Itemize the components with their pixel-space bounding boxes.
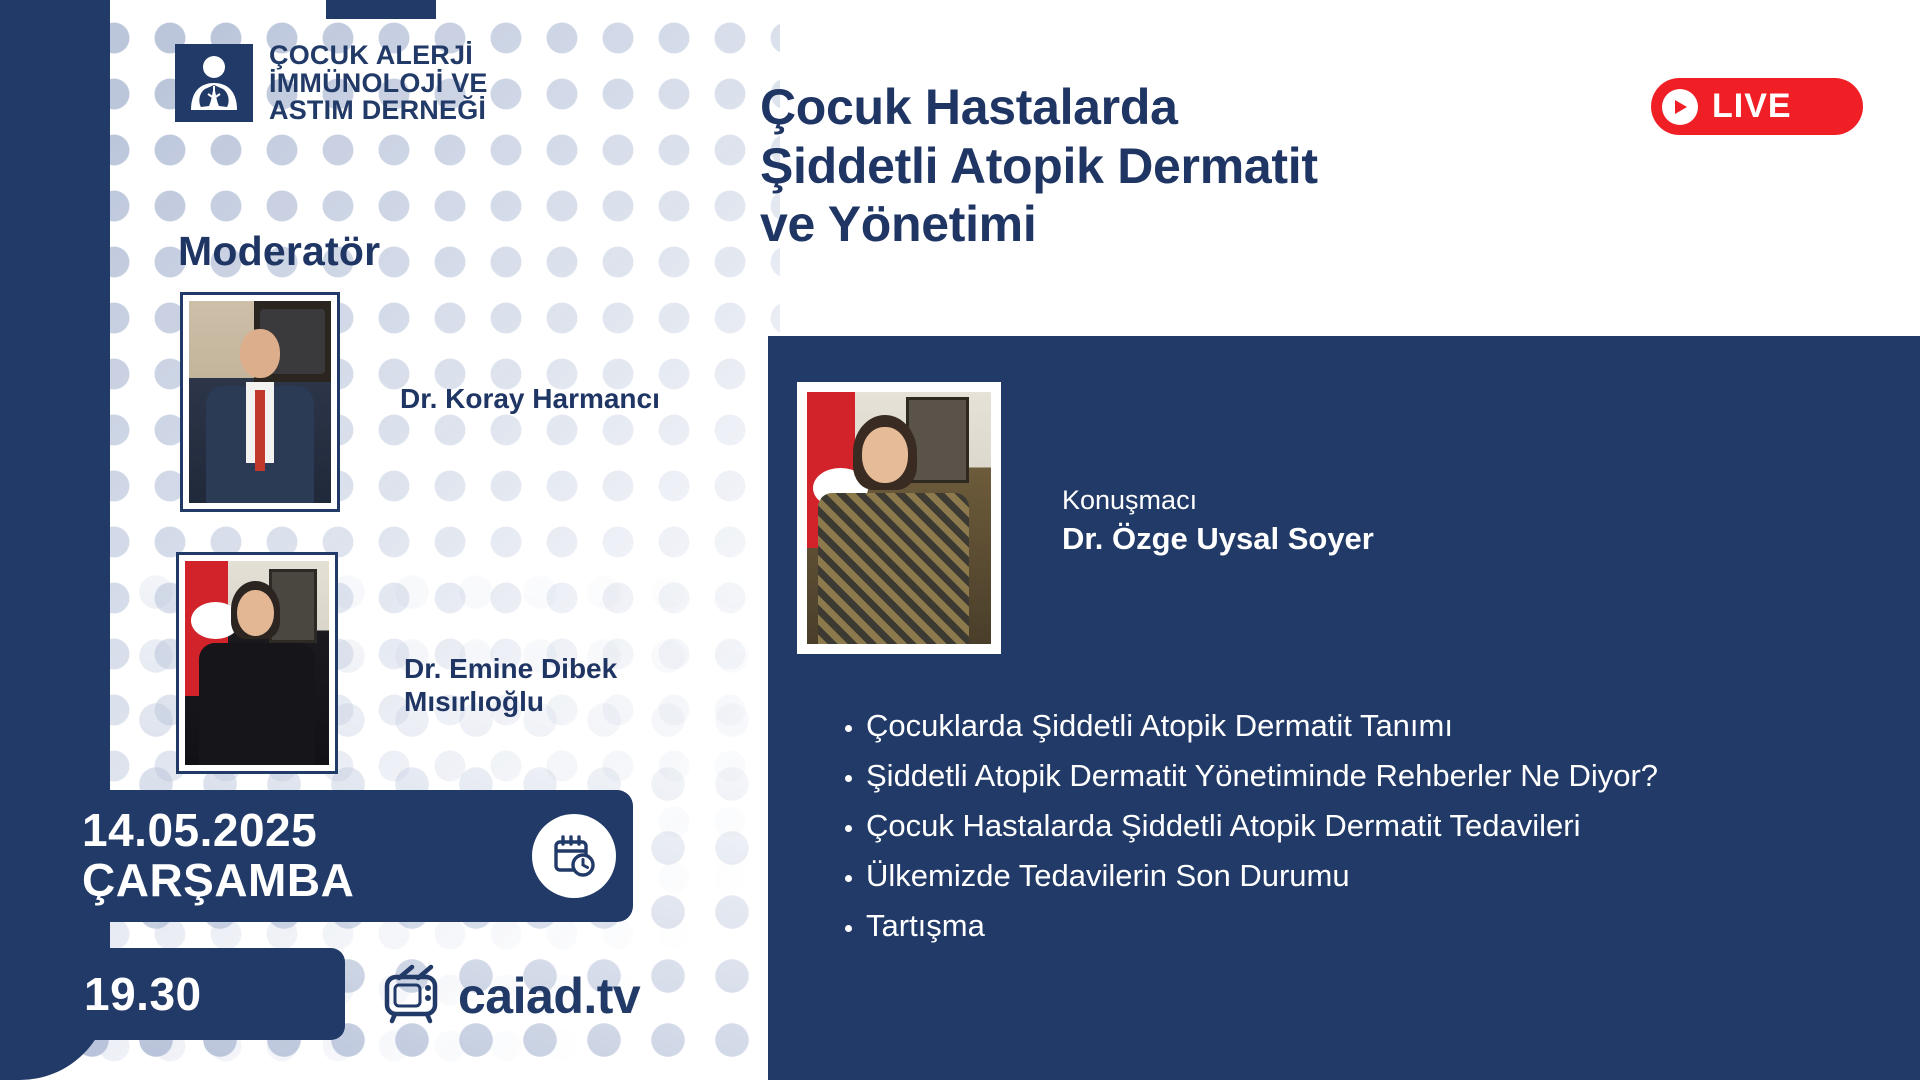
moderator-photo-2 [176, 552, 338, 774]
lungs-person-icon [175, 44, 253, 122]
calendar-clock-icon [532, 814, 616, 898]
organization-logo: ÇOCUK ALERJİ İMMÜNOLOJİ VE ASTIM DERNEĞİ [175, 42, 488, 125]
topic-list: Çocuklarda Şiddetli Atopik Dermatit Tanı… [826, 706, 1920, 956]
play-icon [1662, 89, 1698, 125]
speaker-name: Dr. Özge Uysal Soyer [1062, 521, 1374, 557]
list-item: Ülkemizde Tedavilerin Son Durumu [866, 856, 1920, 897]
channel-handle-text: caiad.tv [458, 967, 640, 1025]
moderator-photo-1 [180, 292, 340, 512]
live-badge-label: LIVE [1712, 87, 1792, 126]
moderator-heading: Moderatör [178, 228, 380, 275]
top-accent-tab [326, 0, 436, 19]
portrait-ozge-uysal-soyer [807, 392, 991, 644]
time-badge: 19.30 [60, 948, 345, 1040]
channel-handle[interactable]: caiad.tv [382, 962, 640, 1029]
date-text: 14.05.2025 ÇARŞAMBA [82, 806, 354, 905]
portrait-koray-harmanci [189, 301, 331, 503]
moderator-name-1: Dr. Koray Harmancı [400, 382, 680, 415]
portrait-emine-dibek-misirlioglu [185, 561, 329, 765]
speaker-role-label: Konuşmacı [1062, 485, 1197, 516]
speaker-photo [797, 382, 1001, 654]
date-badge: 14.05.2025 ÇARŞAMBA [60, 790, 633, 922]
list-item: Çocuklarda Şiddetli Atopik Dermatit Tanı… [866, 706, 1920, 747]
page-title: Çocuk Hastalarda Şiddetli Atopik Dermati… [760, 78, 1640, 254]
list-item: Şiddetli Atopik Dermatit Yönetiminde Reh… [866, 756, 1920, 797]
television-icon [382, 962, 448, 1029]
organization-name: ÇOCUK ALERJİ İMMÜNOLOJİ VE ASTIM DERNEĞİ [269, 42, 488, 125]
poster-canvas: ÇOCUK ALERJİ İMMÜNOLOJİ VE ASTIM DERNEĞİ… [0, 0, 1920, 1080]
live-badge[interactable]: LIVE [1651, 78, 1863, 135]
list-item: Tartışma [866, 906, 1920, 947]
moderator-name-2: Dr. Emine Dibek Mısırlıoğlu [404, 652, 704, 718]
time-text: 19.30 [84, 967, 202, 1021]
list-item: Çocuk Hastalarda Şiddetli Atopik Dermati… [866, 806, 1920, 847]
